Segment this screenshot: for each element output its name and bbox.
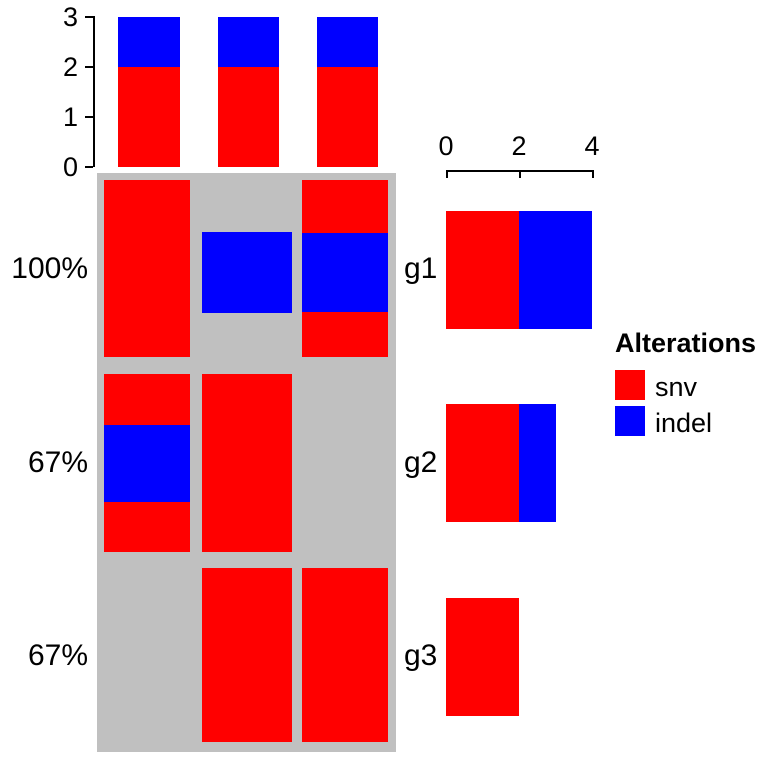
top-bar-s1-snv xyxy=(118,67,180,167)
row-percent-g2: 67% xyxy=(0,448,88,478)
top-bar-s1-indel xyxy=(118,17,180,67)
right-barplot-xlabel-2: 2 xyxy=(501,133,537,160)
right-bar-g3-snv xyxy=(446,598,519,716)
row-percent-g1: 100% xyxy=(0,254,88,284)
right-bar-g2-indel xyxy=(519,404,556,522)
legend: Alterations snv indel xyxy=(608,330,768,440)
top-bar-s2-indel xyxy=(218,17,279,67)
right-bar-g2-snv xyxy=(446,404,519,522)
matrix-cell-g1-s3-indel[interactable] xyxy=(302,233,388,312)
matrix-cell-g1-s2-indel[interactable] xyxy=(202,232,292,313)
row-percent-g3: 67% xyxy=(0,641,88,671)
oncoprint-figure: 3 2 1 0 0 2 4 xyxy=(0,0,768,768)
right-bar-g1-snv xyxy=(446,211,519,329)
top-barplot-ylabel-1: 1 xyxy=(40,104,78,131)
legend-swatch-indel[interactable] xyxy=(615,406,645,436)
matrix-cell-g2-s2-snv[interactable] xyxy=(202,374,292,552)
right-barplot-xlabel-0: 0 xyxy=(428,133,464,160)
oncoprint-matrix-panel xyxy=(97,173,396,752)
right-barplot-axis: 0 2 4 xyxy=(420,125,620,180)
right-barplot-xlabel-4: 4 xyxy=(574,133,610,160)
right-bar-g1-indel xyxy=(519,211,592,329)
top-bar-s3-indel xyxy=(317,17,378,67)
top-barplot-ylabel-0: 0 xyxy=(40,154,78,181)
matrix-cell-g2-s1-indel[interactable] xyxy=(104,425,190,502)
top-barplot: 3 2 1 0 xyxy=(0,0,420,175)
legend-label-snv: snv xyxy=(655,374,697,401)
top-barplot-ylabel-3: 3 xyxy=(40,4,78,31)
top-barplot-y-axis-line xyxy=(93,16,95,167)
matrix-cell-g3-s2-snv[interactable] xyxy=(202,568,292,742)
top-barplot-ytick-3 xyxy=(85,16,93,18)
top-barplot-ytick-2 xyxy=(85,66,93,68)
matrix-cell-g1-s1-snv[interactable] xyxy=(104,180,190,357)
right-barplot xyxy=(420,173,620,752)
top-barplot-ytick-1 xyxy=(85,116,93,118)
legend-label-indel: indel xyxy=(655,410,712,437)
top-barplot-ylabel-2: 2 xyxy=(40,54,78,81)
legend-title: Alterations xyxy=(615,330,756,357)
top-barplot-ytick-0 xyxy=(85,166,93,168)
matrix-cell-g3-s3-snv[interactable] xyxy=(302,568,388,742)
top-bar-s3-snv xyxy=(317,67,378,167)
legend-swatch-snv[interactable] xyxy=(615,370,645,400)
top-bar-s2-snv xyxy=(218,67,279,167)
